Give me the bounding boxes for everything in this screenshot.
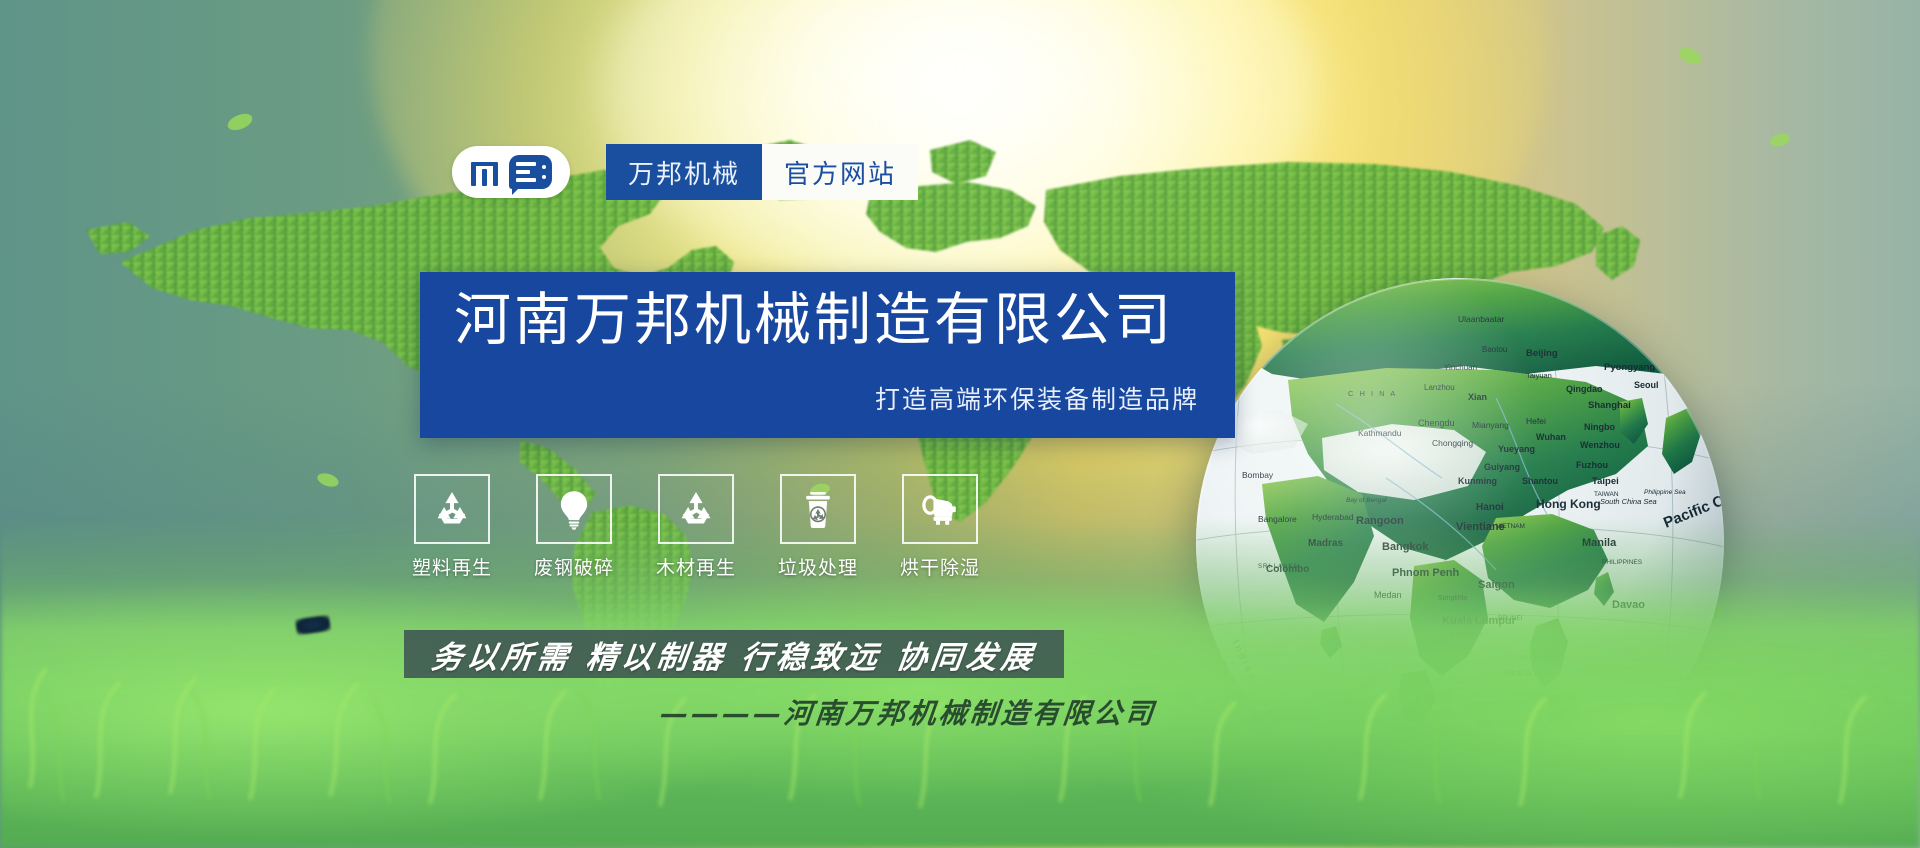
service-item-drying-dehumidifying[interactable]: 烘干除湿 <box>904 474 976 580</box>
service-label: 废钢破碎 <box>534 553 614 580</box>
service-item-waste-treatment[interactable]: 垃圾处理 <box>782 474 854 580</box>
lightbulb-icon <box>536 474 612 544</box>
wanbang-logo[interactable] <box>452 146 570 198</box>
svg-text:Hanoi: Hanoi <box>1476 502 1504 513</box>
svg-text:Xian: Xian <box>1468 392 1487 402</box>
service-label: 木材再生 <box>656 553 736 580</box>
svg-text:Bay of Bengal: Bay of Bengal <box>1346 497 1387 504</box>
service-item-plastic-recycling[interactable]: 塑料再生 <box>416 474 488 580</box>
svg-text:Taiyuan: Taiyuan <box>1526 371 1552 380</box>
official-site-tab[interactable]: 官方网站 <box>762 144 918 200</box>
svg-text:Hong Kong: Hong Kong <box>1536 497 1601 511</box>
svg-text:Yueyang: Yueyang <box>1498 444 1535 454</box>
svg-text:Taipei: Taipei <box>1592 476 1619 487</box>
svg-text:South China Sea: South China Sea <box>1600 497 1657 506</box>
svg-text:Kathmandu: Kathmandu <box>1358 428 1402 438</box>
banner-tagline: 打造高端环保装备制造品牌 <box>875 380 1199 416</box>
svg-text:Qingdao: Qingdao <box>1566 384 1603 394</box>
hero-banner: Ulaanbaatar Beijing Baotou Yinchuan Lanz… <box>0 0 1920 848</box>
service-label: 烘干除湿 <box>900 553 980 580</box>
svg-text:Ningbo: Ningbo <box>1584 422 1615 432</box>
svg-text:Pyongyang: Pyongyang <box>1604 362 1655 373</box>
slogan-attribution: ————河南万邦机械制造有限公司 <box>658 692 1282 732</box>
svg-text:Seoul: Seoul <box>1634 380 1659 390</box>
service-label: 塑料再生 <box>412 553 492 580</box>
brand-tab[interactable]: 万邦机械 <box>606 144 762 200</box>
recycle-icon <box>414 474 490 544</box>
service-item-wood-recycling[interactable]: 木材再生 <box>660 474 732 580</box>
svg-text:Shanghai: Shanghai <box>1588 400 1631 411</box>
svg-text:Beijing: Beijing <box>1526 348 1558 359</box>
svg-text:Mianyang: Mianyang <box>1472 420 1509 430</box>
svg-text:Tokyo: Tokyo <box>1680 380 1709 391</box>
svg-text:Yinchuan: Yinchuan <box>1444 363 1477 372</box>
svg-text:Shantou: Shantou <box>1522 476 1558 486</box>
svg-text:Baotou: Baotou <box>1482 345 1507 354</box>
slogan-text: 务以所需 精以制器 行稳致远 协同发展 <box>429 632 1039 677</box>
logo-w-icon <box>470 158 502 186</box>
svg-text:Bombay: Bombay <box>1242 470 1274 480</box>
service-icon-row: 塑料再生 废钢破碎 <box>416 474 976 580</box>
svg-text:Ulaanbaatar: Ulaanbaatar <box>1458 314 1504 324</box>
svg-text:Philippine Sea: Philippine Sea <box>1644 489 1686 496</box>
service-item-scrap-steel-crushing[interactable]: 废钢破碎 <box>538 474 610 580</box>
svg-text:Hefei: Hefei <box>1526 416 1546 426</box>
svg-text:Chengdu: Chengdu <box>1418 418 1455 428</box>
svg-text:Sea of Japan: Sea of Japan <box>1648 333 1687 340</box>
trash-bin-icon <box>780 474 856 544</box>
svg-text:C H I N A: C H I N A <box>1348 389 1397 398</box>
dryer-icon <box>902 474 978 544</box>
page-title: 河南万邦机械制造有限公司 <box>454 292 1174 349</box>
svg-text:Lanzhou: Lanzhou <box>1424 383 1455 392</box>
recycle-icon <box>658 474 734 544</box>
company-banner: 河南万邦机械制造有限公司 打造高端环保装备制造品牌 <box>420 272 1235 438</box>
service-label: 垃圾处理 <box>778 553 858 580</box>
svg-text:Fuzhou: Fuzhou <box>1576 460 1608 470</box>
svg-text:Chongqing: Chongqing <box>1432 438 1473 448</box>
svg-text:Wenzhou: Wenzhou <box>1580 440 1620 450</box>
site-header: 万邦机械 官方网站 <box>452 144 918 200</box>
svg-text:Wuhan: Wuhan <box>1536 432 1566 442</box>
logo-e-bubble-icon <box>509 155 552 189</box>
slogan-bar: 务以所需 精以制器 行稳致远 协同发展 <box>404 630 1064 678</box>
svg-text:Guiyang: Guiyang <box>1484 462 1520 472</box>
svg-text:Kunming: Kunming <box>1458 476 1497 486</box>
